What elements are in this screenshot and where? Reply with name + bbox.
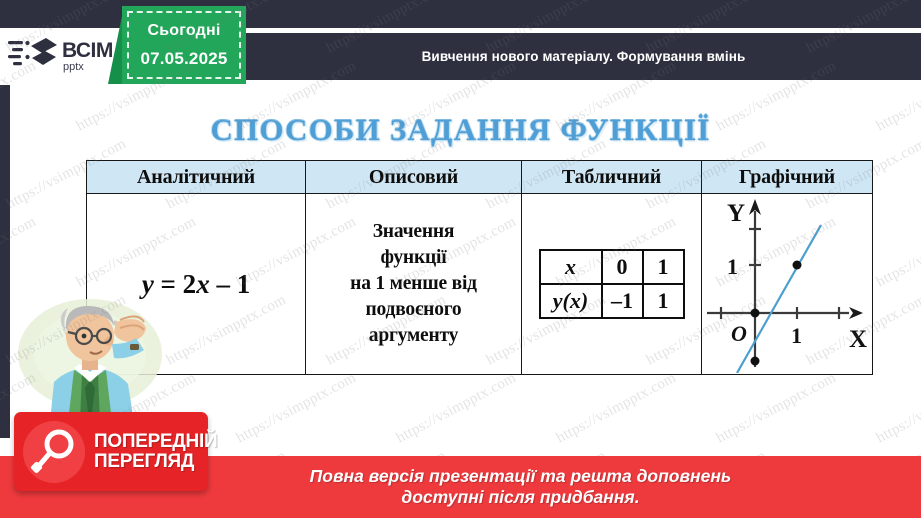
- date-tag: Сьогодні 07.05.2025: [122, 6, 246, 84]
- function-line: [737, 225, 821, 373]
- descriptive-text: Значення функції на 1 менше від подвоєно…: [306, 217, 521, 351]
- column-header-tabular: Табличний: [522, 161, 702, 194]
- table-header-row: Аналітичний Описовий Табличний Графічний: [87, 161, 873, 194]
- purchase-notice-line-1: Повна версія презентації та решта доповн…: [310, 466, 732, 487]
- teacher-character-illustration: [16, 296, 168, 422]
- x-axis-label: X: [849, 326, 867, 353]
- purchase-notice-line-2: доступні після придбання.: [401, 487, 639, 508]
- watermark-text: https://vsimpptx.com: [714, 370, 839, 447]
- value-table: x 0 1 y(x) –1 1: [539, 249, 685, 319]
- x-tick-label-1: 1: [791, 323, 802, 348]
- value-table-y-value-1: 1: [643, 284, 684, 318]
- header-banner: Вивчення нового матеріалу. Формування вм…: [246, 33, 921, 80]
- preview-badge[interactable]: ПОПЕРЕДНІЙ ПЕРЕГЛЯД: [14, 412, 208, 491]
- value-table-y-label: y(x): [540, 284, 602, 318]
- point-origin-dot: [751, 309, 760, 318]
- value-table-x-label: x: [540, 250, 602, 284]
- descriptive-line-3: на 1 менше від: [310, 271, 517, 297]
- cell-tabular: x 0 1 y(x) –1 1: [522, 194, 702, 375]
- page-title: СПОСОБИ ЗАДАННЯ ФУНКЦІЇ: [0, 112, 921, 148]
- descriptive-line-1: Значення: [310, 219, 517, 245]
- value-table-y-value-0: –1: [602, 284, 643, 318]
- descriptive-line-2: функції: [310, 245, 517, 271]
- column-header-analytic: Аналітичний: [87, 161, 306, 194]
- origin-label: O: [731, 321, 747, 346]
- point-0-minus1: [751, 357, 760, 366]
- coordinate-plot-svg: Y X O 1 1: [703, 195, 871, 373]
- preview-badge-line-2: ПЕРЕГЛЯД: [94, 452, 217, 472]
- y-tick-label-1: 1: [727, 254, 738, 279]
- brand-logo[interactable]: ВСІМ pptx: [8, 35, 113, 78]
- table-row: y = 2x – 1 Значення функції на 1 менше в…: [87, 194, 873, 375]
- column-header-descriptive: Описовий: [306, 161, 522, 194]
- point-1-1: [793, 261, 802, 270]
- watermark-text: https://vsimpptx.com: [234, 370, 359, 447]
- watermark-text: https://vsimpptx.com: [394, 370, 519, 447]
- formula-expression: y = 2x – 1: [142, 269, 250, 299]
- watermark-text: https://vsimpptx.com: [874, 370, 921, 447]
- logo-subtitle: pptx: [63, 62, 113, 73]
- left-edge-strip: [0, 28, 10, 438]
- value-table-row-x: x 0 1: [540, 250, 684, 284]
- formula-eq: = 2: [154, 269, 196, 299]
- y-axis-label: Y: [727, 200, 745, 227]
- date-tag-label: Сьогодні: [147, 22, 220, 40]
- logo-title: ВСІМ: [62, 40, 113, 61]
- watermark-text: https://vsimpptx.com: [554, 370, 679, 447]
- descriptive-line-5: аргументу: [310, 323, 517, 349]
- value-table-x-value-0: 0: [602, 250, 643, 284]
- function-notation-methods-table: Аналітичний Описовий Табличний Графічний…: [86, 160, 873, 375]
- formula-tail: – 1: [210, 269, 251, 299]
- date-tag-value: 07.05.2025: [140, 49, 227, 69]
- magnifier-icon: [23, 421, 85, 483]
- value-table-row-y: y(x) –1 1: [540, 284, 684, 318]
- graduation-cap-icon: [8, 35, 58, 78]
- coordinate-plot: Y X O 1 1: [703, 195, 871, 373]
- watermark-text: https://vsimpptx.com: [874, 214, 921, 291]
- formula-y: y: [142, 269, 154, 299]
- cell-descriptive: Значення функції на 1 менше від подвоєно…: [306, 194, 522, 375]
- preview-badge-line-1: ПОПЕРЕДНІЙ: [94, 432, 217, 452]
- preview-badge-text: ПОПЕРЕДНІЙ ПЕРЕГЛЯД: [94, 432, 217, 472]
- formula-x: x: [196, 269, 210, 299]
- cell-graphical: Y X O 1 1: [702, 194, 873, 375]
- x-axis-arrow: [849, 307, 863, 319]
- descriptive-line-4: подвоєного: [310, 297, 517, 323]
- column-header-graphical: Графічний: [702, 161, 873, 194]
- header-banner-text: Вивчення нового матеріалу. Формування вм…: [422, 49, 746, 64]
- value-table-x-value-1: 1: [643, 250, 684, 284]
